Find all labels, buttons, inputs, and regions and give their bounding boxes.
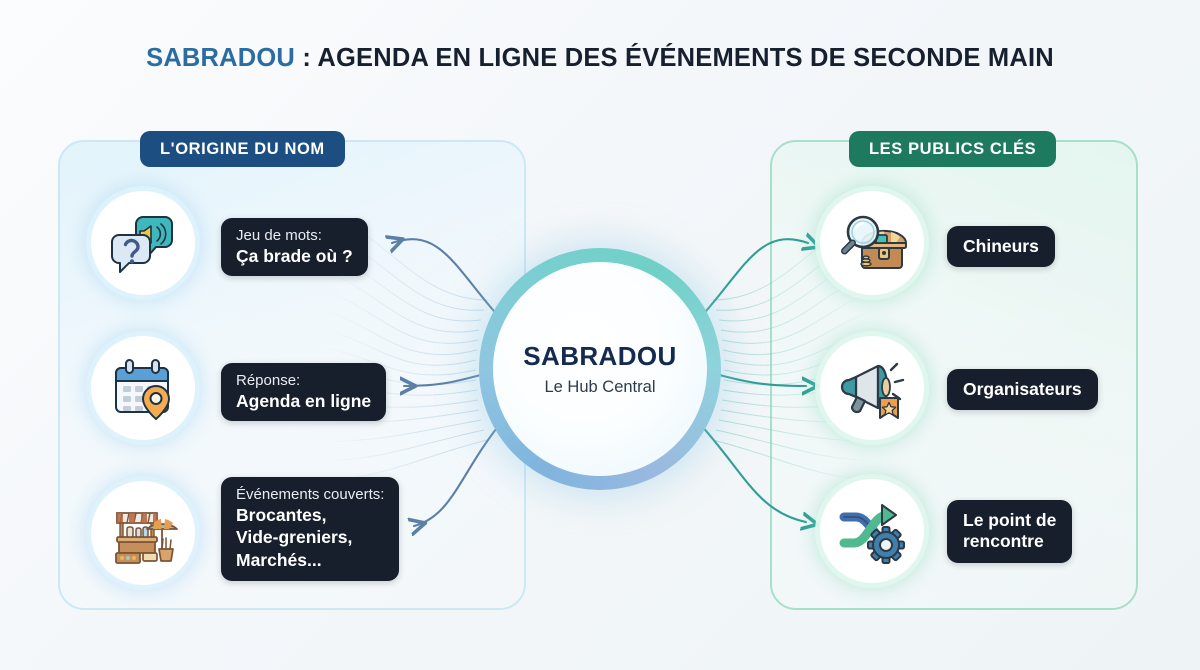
icon-megaphone-award [820,336,924,440]
right-chip-1: Chineurs [947,226,1055,267]
hub-inner-circle: SABRADOU Le Hub Central [493,262,707,476]
left-chip-3-line-1: Brocantes, [236,505,384,527]
magnifier-treasure-chest-icon [836,207,908,279]
infographic-canvas: SABRADOU : AGENDA EN LIGNE DES ÉVÉNEMENT… [0,0,1200,670]
left-chip-3-line-3: Marchés... [236,550,384,572]
right-chip-3: Le point de rencontre [947,500,1072,563]
left-chip-2: Réponse: Agenda en ligne [221,363,386,421]
left-chip-3-line-2: Vide-greniers, [236,527,384,549]
left-chip-3: Événements couverts: Brocantes, Vide-gre… [221,477,399,581]
speech-bubbles-question-icon [107,207,179,279]
left-chip-1: Jeu de mots: Ça brade où ? [221,218,368,276]
right-chip-2: Organisateurs [947,369,1098,410]
central-hub: SABRADOU Le Hub Central [479,275,721,463]
hub-subtitle: Le Hub Central [545,378,656,397]
icon-magnifier-treasure-chest [820,191,924,295]
left-chip-1-line-1: Ça brade où ? [236,246,353,268]
crossing-arrows-gear-icon [836,495,908,567]
left-chip-3-caption: Événements couverts: [236,486,384,505]
market-stall-icon [107,497,179,569]
left-chip-1-caption: Jeu de mots: [236,227,353,246]
icon-speech-bubbles-question [91,191,195,295]
left-chip-2-line-1: Agenda en ligne [236,391,371,413]
icon-market-stall [91,481,195,585]
left-chip-2-caption: Réponse: [236,372,371,391]
left-section-badge: L'ORIGINE DU NOM [140,131,345,167]
megaphone-award-ribbon-icon [836,352,908,424]
icon-crossing-arrows-gear [820,479,924,583]
icon-calendar-location [91,336,195,440]
hub-title: SABRADOU [523,341,676,372]
calendar-location-pin-icon [107,352,179,424]
right-section-badge: LES PUBLICS CLÉS [849,131,1056,167]
